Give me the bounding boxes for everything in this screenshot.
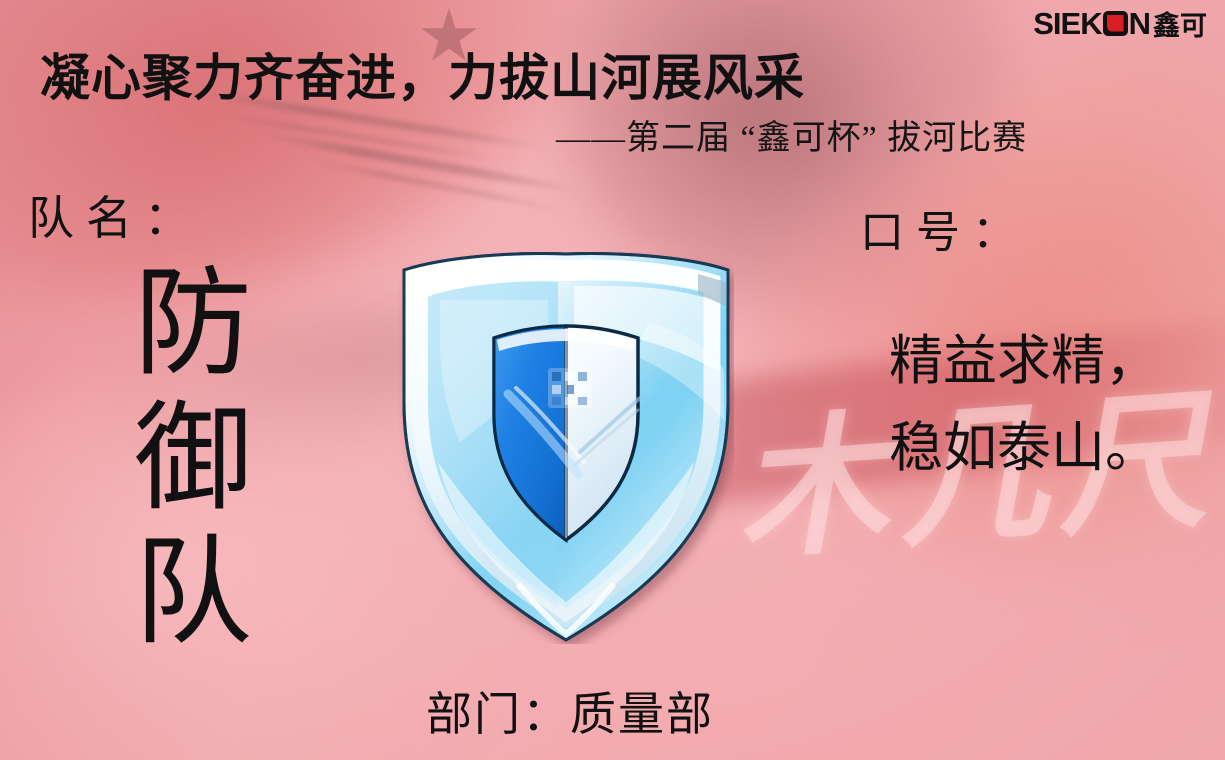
- slogan-value: 精益求精， 稳如泰山。: [828, 318, 1220, 493]
- slogan-label: 口号：: [860, 196, 1028, 260]
- department-text: 部门：质量部: [300, 678, 840, 744]
- slogan-line: 稳如泰山。: [828, 405, 1220, 492]
- slogan-line: 精益求精，: [828, 318, 1220, 405]
- team-name-label: 队名：: [28, 182, 202, 248]
- shield-inner-checker: [548, 368, 592, 408]
- team-name-value: 防 御 队: [108, 258, 278, 662]
- page-title: 凝心聚力齐奋进，力拔山河展风采: [40, 38, 805, 110]
- logo-latin-tail: N: [1129, 8, 1150, 39]
- logo-latin-text: SIEK N: [1033, 8, 1150, 39]
- shield-graphic: [398, 252, 734, 644]
- poster-root: 木几尺 SIEK N 鑫可 凝心聚力齐奋进，力拔山河展风采 ——第二届 “鑫可杯…: [0, 0, 1225, 760]
- team-name-char: 防: [108, 258, 278, 393]
- logo-chinese-text: 鑫可: [1153, 4, 1207, 43]
- shield-icon: [398, 252, 734, 644]
- siekon-logo: SIEK N 鑫可: [1029, 4, 1211, 42]
- team-name-char: 御: [108, 393, 278, 528]
- page-subtitle: ——第二届 “鑫可杯” 拔河比赛: [556, 110, 1027, 159]
- logo-o-icon: [1103, 11, 1128, 36]
- logo-latin-head: SIEK: [1033, 8, 1101, 39]
- team-name-char: 队: [108, 527, 278, 662]
